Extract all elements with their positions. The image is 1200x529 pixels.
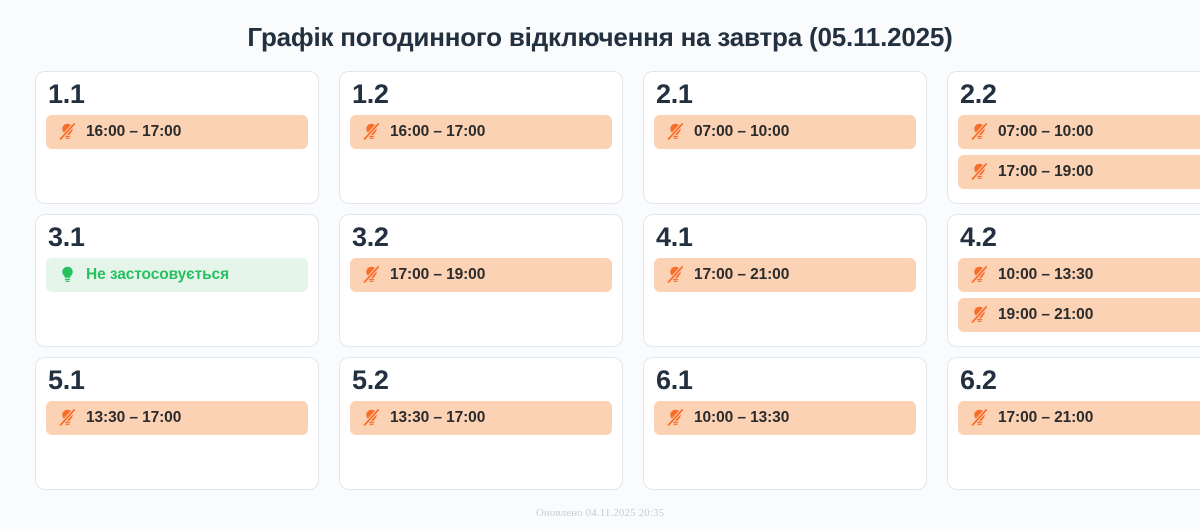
outage-slot: 10:00 – 13:30 <box>654 401 916 435</box>
group-card: 6.217:00 – 21:00 <box>947 357 1200 490</box>
outage-slot: 17:00 – 19:00 <box>350 258 612 292</box>
slot-label: 13:30 – 17:00 <box>86 409 181 427</box>
bulb-off-icon <box>970 265 989 284</box>
bulb-off-icon <box>58 122 77 141</box>
bulb-off-icon <box>666 122 685 141</box>
slot-label: 07:00 – 10:00 <box>998 123 1093 141</box>
outage-slot: 17:00 – 21:00 <box>958 401 1200 435</box>
bulb-off-icon <box>970 122 989 141</box>
page-title: Графік погодинного відключення на завтра… <box>0 0 1200 63</box>
bulb-off-icon <box>362 408 381 427</box>
group-card: 6.110:00 – 13:30 <box>643 357 927 490</box>
group-name: 1.1 <box>48 80 308 108</box>
slot-list: 17:00 – 21:00 <box>654 258 916 292</box>
bulb-on-icon <box>58 265 77 284</box>
slot-list: 16:00 – 17:00 <box>46 115 308 149</box>
slot-list: 13:30 – 17:00 <box>350 401 612 435</box>
slot-label: Не застосовується <box>86 266 229 284</box>
group-name: 1.2 <box>352 80 612 108</box>
group-name: 4.2 <box>960 223 1200 251</box>
group-name: 5.1 <box>48 366 308 394</box>
slot-list: 13:30 – 17:00 <box>46 401 308 435</box>
slot-list: 07:00 – 10:0017:00 – 19:00 <box>958 115 1200 189</box>
no-outage-slot: Не застосовується <box>46 258 308 292</box>
group-name: 3.1 <box>48 223 308 251</box>
outage-slot: 16:00 – 17:00 <box>46 115 308 149</box>
slot-label: 07:00 – 10:00 <box>694 123 789 141</box>
outage-slot: 17:00 – 21:00 <box>654 258 916 292</box>
outage-slot: 10:00 – 13:30 <box>958 258 1200 292</box>
outage-slot: 13:30 – 17:00 <box>46 401 308 435</box>
slot-label: 17:00 – 21:00 <box>998 409 1093 427</box>
slot-label: 17:00 – 21:00 <box>694 266 789 284</box>
group-card: 1.116:00 – 17:00 <box>35 71 319 204</box>
slot-label: 10:00 – 13:30 <box>998 266 1093 284</box>
bulb-off-icon <box>58 408 77 427</box>
group-card: 4.210:00 – 13:3019:00 – 21:00 <box>947 214 1200 347</box>
slot-list: 07:00 – 10:00 <box>654 115 916 149</box>
outage-slot: 07:00 – 10:00 <box>654 115 916 149</box>
group-card: 4.117:00 – 21:00 <box>643 214 927 347</box>
slot-label: 16:00 – 17:00 <box>390 123 485 141</box>
slot-list: 10:00 – 13:3019:00 – 21:00 <box>958 258 1200 332</box>
group-card: 2.207:00 – 10:0017:00 – 19:00 <box>947 71 1200 204</box>
bulb-off-icon <box>362 265 381 284</box>
group-name: 2.2 <box>960 80 1200 108</box>
group-name: 4.1 <box>656 223 916 251</box>
slot-label: 17:00 – 19:00 <box>998 163 1093 181</box>
slot-label: 17:00 – 19:00 <box>390 266 485 284</box>
slot-list: 17:00 – 21:00 <box>958 401 1200 435</box>
last-updated-label: Оновлено 04.11.2025 20:35 <box>0 507 1200 519</box>
bulb-off-icon <box>970 305 989 324</box>
slot-label: 16:00 – 17:00 <box>86 123 181 141</box>
group-card: 3.217:00 – 19:00 <box>339 214 623 347</box>
bulb-off-icon <box>970 408 989 427</box>
group-card: 5.213:30 – 17:00 <box>339 357 623 490</box>
outage-slot: 07:00 – 10:00 <box>958 115 1200 149</box>
outage-slot: 19:00 – 21:00 <box>958 298 1200 332</box>
slot-label: 10:00 – 13:30 <box>694 409 789 427</box>
slot-list: Не застосовується <box>46 258 308 292</box>
slot-label: 13:30 – 17:00 <box>390 409 485 427</box>
group-name: 6.1 <box>656 366 916 394</box>
group-name: 3.2 <box>352 223 612 251</box>
bulb-off-icon <box>666 408 685 427</box>
group-card: 5.113:30 – 17:00 <box>35 357 319 490</box>
group-grid: 1.116:00 – 17:001.216:00 – 17:002.107:00… <box>0 63 1200 490</box>
bulb-off-icon <box>362 122 381 141</box>
group-card: 1.216:00 – 17:00 <box>339 71 623 204</box>
bulb-off-icon <box>970 162 989 181</box>
slot-list: 10:00 – 13:30 <box>654 401 916 435</box>
outage-slot: 13:30 – 17:00 <box>350 401 612 435</box>
outage-slot: 16:00 – 17:00 <box>350 115 612 149</box>
bulb-off-icon <box>666 265 685 284</box>
group-card: 2.107:00 – 10:00 <box>643 71 927 204</box>
slot-label: 19:00 – 21:00 <box>998 306 1093 324</box>
group-card: 3.1Не застосовується <box>35 214 319 347</box>
group-name: 2.1 <box>656 80 916 108</box>
outage-slot: 17:00 – 19:00 <box>958 155 1200 189</box>
slot-list: 16:00 – 17:00 <box>350 115 612 149</box>
group-name: 6.2 <box>960 366 1200 394</box>
outage-schedule-page: Графік погодинного відключення на завтра… <box>0 0 1200 529</box>
slot-list: 17:00 – 19:00 <box>350 258 612 292</box>
group-name: 5.2 <box>352 366 612 394</box>
